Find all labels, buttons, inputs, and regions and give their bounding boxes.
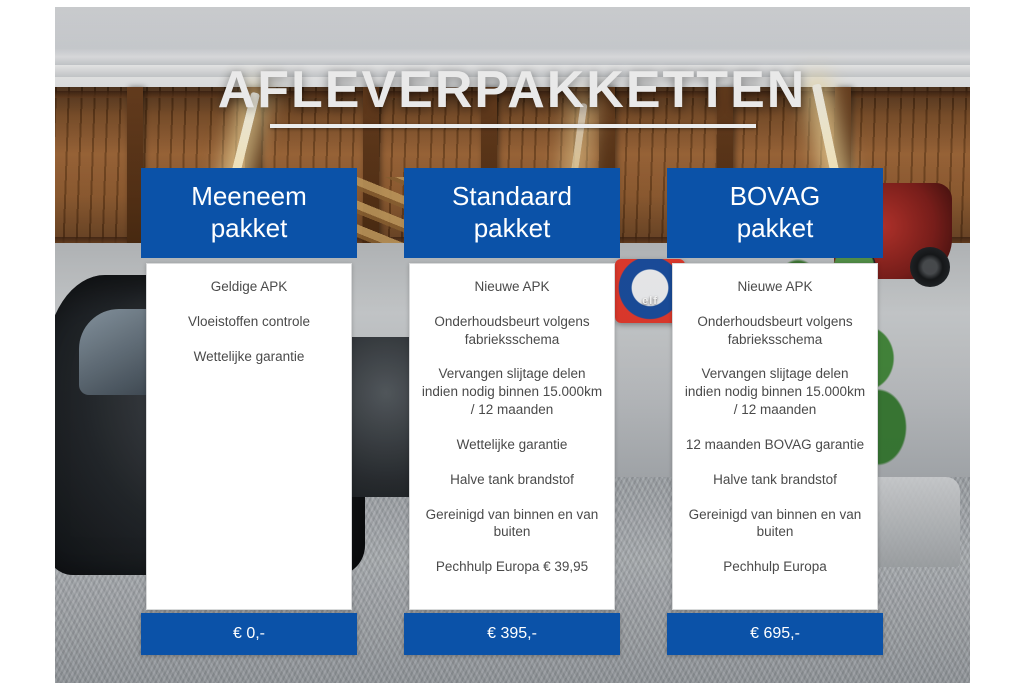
slide-canvas: elf AFLEVERPAKKETTEN Meeneem pakket Geld…	[0, 0, 1024, 683]
package-header: BOVAG pakket	[667, 168, 883, 258]
feature-item: Onderhoudsbeurt volgens fabrieksschema	[420, 313, 604, 349]
feature-item: Nieuwe APK	[683, 278, 867, 296]
package-title-line2: pakket	[211, 213, 288, 243]
package-card-standaard[interactable]: Standaard pakket Nieuwe APK Onderhoudsbe…	[404, 168, 620, 610]
package-feature-list: Nieuwe APK Onderhoudsbeurt volgens fabri…	[672, 263, 878, 610]
feature-item: Pechhulp Europa € 39,95	[420, 558, 604, 576]
title-divider	[270, 124, 756, 128]
page-title: AFLEVERPAKKETTEN	[0, 60, 1024, 120]
package-feature-list: Geldige APK Vloeistoffen controle Wettel…	[146, 263, 352, 610]
package-title-line1: Standaard	[452, 181, 572, 211]
feature-item: Halve tank brandstof	[420, 471, 604, 489]
feature-item: Pechhulp Europa	[683, 558, 867, 576]
package-feature-list: Nieuwe APK Onderhoudsbeurt volgens fabri…	[409, 263, 615, 610]
package-header: Standaard pakket	[404, 168, 620, 258]
feature-item: Nieuwe APK	[420, 278, 604, 296]
feature-item: 12 maanden BOVAG garantie	[683, 436, 867, 454]
package-title-line2: pakket	[474, 213, 551, 243]
feature-item: Gereinigd van binnen en van buiten	[683, 506, 867, 542]
feature-item: Gereinigd van binnen en van buiten	[420, 506, 604, 542]
package-price[interactable]: € 695,-	[667, 613, 883, 655]
feature-item: Wettelijke garantie	[157, 348, 341, 366]
package-title-line2: pakket	[737, 213, 814, 243]
feature-item: Onderhoudsbeurt volgens fabrieksschema	[683, 313, 867, 349]
feature-item: Geldige APK	[157, 278, 341, 296]
feature-item: Vloeistoffen controle	[157, 313, 341, 331]
package-card-bovag[interactable]: BOVAG pakket Nieuwe APK Onderhoudsbeurt …	[667, 168, 883, 610]
package-title-line1: BOVAG	[730, 181, 821, 211]
feature-item: Wettelijke garantie	[420, 436, 604, 454]
package-card-meeneem[interactable]: Meeneem pakket Geldige APK Vloeistoffen …	[141, 168, 357, 610]
feature-item: Vervangen slijtage delen indien nodig bi…	[683, 365, 867, 418]
package-price[interactable]: € 395,-	[404, 613, 620, 655]
package-price[interactable]: € 0,-	[141, 613, 357, 655]
package-title-line1: Meeneem	[191, 181, 307, 211]
package-header: Meeneem pakket	[141, 168, 357, 258]
feature-item: Vervangen slijtage delen indien nodig bi…	[420, 365, 604, 418]
feature-item: Halve tank brandstof	[683, 471, 867, 489]
